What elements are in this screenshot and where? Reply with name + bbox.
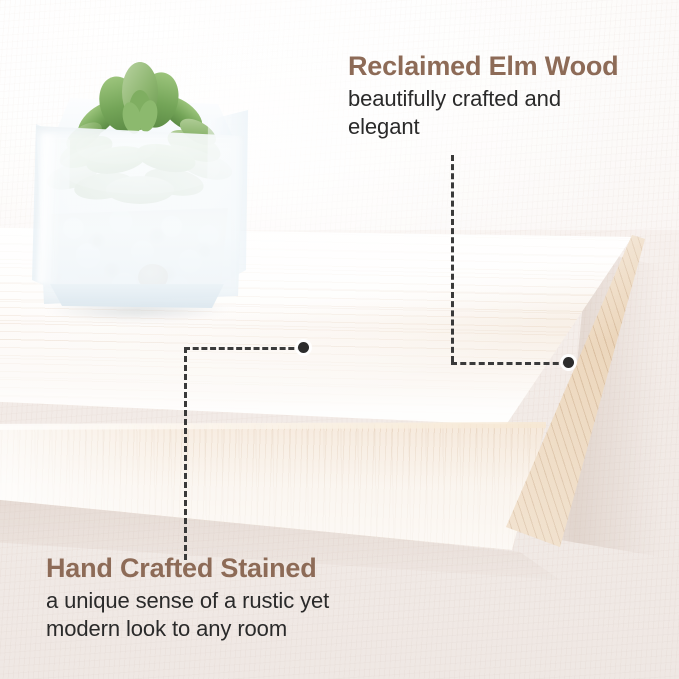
callout-leader-horizontal-reclaimed: [451, 362, 568, 365]
callout-leader-vertical-handcrafted: [184, 347, 187, 560]
callout-dot-reclaimed: [563, 357, 574, 368]
planter-glass-base: [44, 284, 230, 310]
callout-leader-horizontal-handcrafted: [184, 347, 303, 350]
callout-dot-handcrafted: [298, 342, 309, 353]
callout-body-reclaimed-line-2: elegant: [348, 113, 674, 141]
planter-front-glass: [32, 126, 248, 304]
glass-planter: [18, 48, 264, 310]
callout-body-reclaimed-line-1: beautifully crafted and: [348, 85, 674, 113]
callout-text-reclaimed: Reclaimed Elm Wood beautifully crafted a…: [348, 52, 674, 141]
callout-body-handcrafted-line-2: modern look to any room: [46, 615, 406, 643]
callout-headline-handcrafted: Hand Crafted Stained: [46, 554, 406, 584]
product-feature-image: Reclaimed Elm Wood beautifully crafted a…: [0, 0, 679, 679]
callout-text-handcrafted: Hand Crafted Stained a unique sense of a…: [46, 554, 406, 643]
callout-headline-reclaimed: Reclaimed Elm Wood: [348, 52, 674, 82]
callout-leader-vertical-reclaimed: [451, 155, 454, 362]
callout-body-handcrafted-line-1: a unique sense of a rustic yet: [46, 587, 406, 615]
